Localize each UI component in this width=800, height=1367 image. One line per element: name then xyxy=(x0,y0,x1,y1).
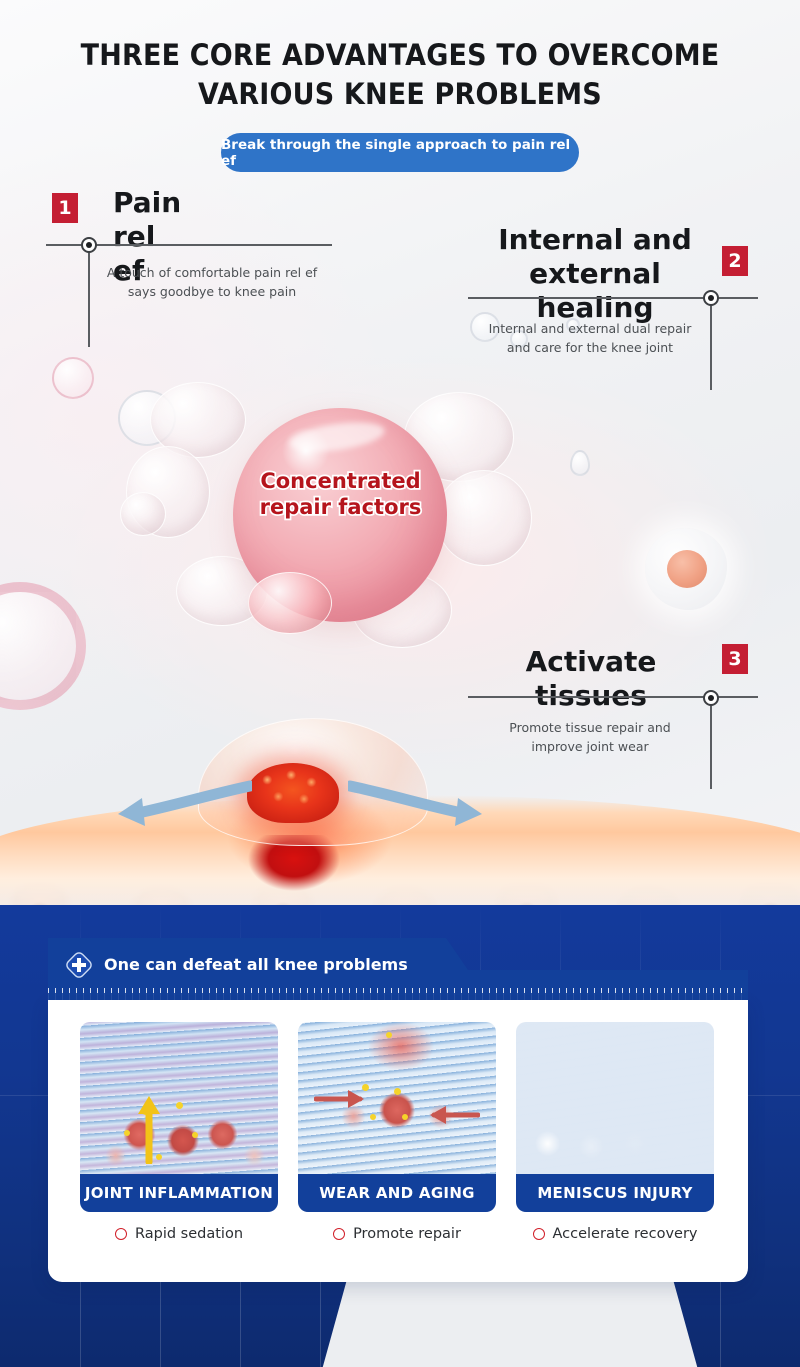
medical-cross-diamond-icon xyxy=(66,952,92,978)
flow-arrow-right-icon xyxy=(348,780,488,828)
splash-shape-right-lower xyxy=(436,470,532,566)
inflammation-bump xyxy=(247,763,339,823)
feature-2-description: Internal and external dual repair and ca… xyxy=(468,320,712,358)
tile-caption-row: Promote repair xyxy=(298,1226,496,1242)
bottom-trapezoid-shape xyxy=(320,1267,700,1367)
tile-label: JOINT INFLAMMATION xyxy=(80,1174,278,1212)
decorative-droplet xyxy=(570,450,590,476)
tile-caption-row: Rapid sedation xyxy=(80,1226,278,1242)
tagline-pill[interactable]: Break through the single approach to pai… xyxy=(221,133,579,172)
page-stage: THREE CORE ADVANTAGES TO OVERCOME VARIOU… xyxy=(0,0,800,1367)
feature-1-badge: 1 xyxy=(52,193,78,223)
inward-arrow-left-icon xyxy=(314,1088,364,1110)
inward-arrow-right-icon xyxy=(430,1104,480,1126)
splash-droplet-small xyxy=(120,492,166,536)
feature-3-knob xyxy=(703,690,719,706)
tile-item[interactable]: WEAR AND AGING Promote repair xyxy=(298,1022,496,1242)
bottom-banner-title: One can defeat all knee problems xyxy=(104,952,408,978)
flow-arrow-left-icon xyxy=(112,780,252,828)
tile-caption-row: Accelerate recovery xyxy=(516,1226,714,1242)
tile-caption: Rapid sedation xyxy=(135,1226,243,1242)
tile-item[interactable]: JOINT INFLAMMATION Rapid sedation xyxy=(80,1022,278,1242)
feature-3-heading: Activate tissues xyxy=(470,645,712,713)
tile-label: WEAR AND AGING xyxy=(298,1174,496,1212)
tile-item[interactable]: MENISCUS INJURY Accelerate recovery xyxy=(516,1022,714,1242)
feature-1-vrule xyxy=(88,245,90,347)
feature-1-description: A touch of comfortable pain rel ef says … xyxy=(92,264,332,302)
feature-1-knob xyxy=(81,237,97,253)
bottom-card: JOINT INFLAMMATION Rapid sedation xyxy=(48,1000,748,1282)
tile-image-meniscus-injury xyxy=(516,1022,714,1174)
feature-2-heading: Internal and external healing xyxy=(470,223,720,325)
tile-image-joint-inflammation xyxy=(80,1022,278,1174)
tile-label: MENISCUS INJURY xyxy=(516,1174,714,1212)
ruler-tick-decoration xyxy=(48,988,748,1000)
cell-illustration-right xyxy=(645,528,727,610)
tile-image-wear-and-aging xyxy=(298,1022,496,1174)
feature-3-badge: 3 xyxy=(722,644,748,674)
tile-list: JOINT INFLAMMATION Rapid sedation xyxy=(80,1022,714,1242)
circle-outline-icon xyxy=(115,1228,127,1240)
tile-caption: Accelerate recovery xyxy=(553,1226,698,1242)
splash-shape-red xyxy=(248,572,332,634)
feature-2-badge: 2 xyxy=(722,246,748,276)
upward-arrow-icon xyxy=(136,1094,162,1164)
center-repair-label: Concentrated repair factors xyxy=(243,468,438,521)
circle-outline-icon xyxy=(533,1228,545,1240)
tile-caption: Promote repair xyxy=(353,1226,461,1242)
page-title: THREE CORE ADVANTAGES TO OVERCOME VARIOU… xyxy=(28,36,772,113)
feature-2-knob xyxy=(703,290,719,306)
feature-3-description: Promote tissue repair and improve joint … xyxy=(468,719,712,757)
circle-outline-icon xyxy=(333,1228,345,1240)
decorative-bubble-pink-small xyxy=(52,357,94,399)
